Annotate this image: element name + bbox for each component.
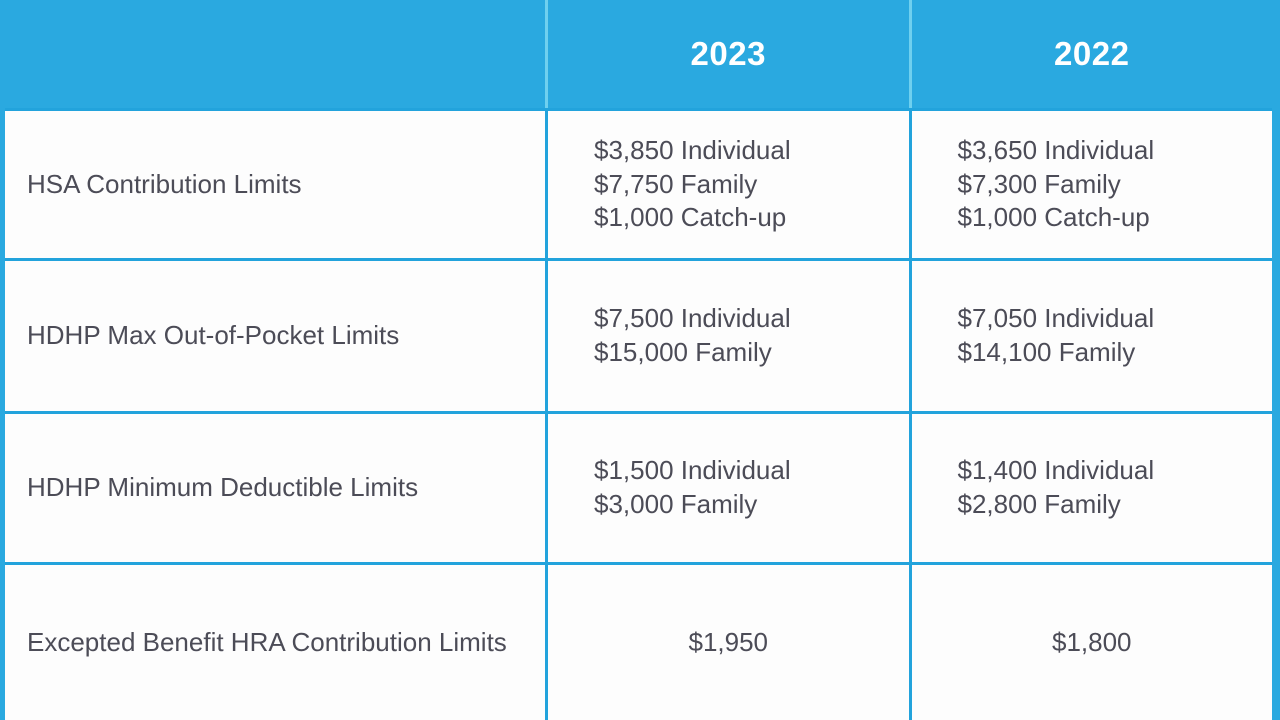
table-row: HDHP Minimum Deductible Limits $1,500 In… [5,411,1272,562]
value-line: $1,800 [1052,626,1132,660]
value-line: $14,100 Family [958,336,1136,370]
value-line: $1,400 Individual [958,454,1155,488]
value-line: $3,000 Family [594,488,757,522]
table-row: HDHP Max Out-of-Pocket Limits $7,500 Ind… [5,258,1272,411]
row-value-cell-2022: $3,650 Individual $7,300 Family $1,000 C… [909,111,1273,258]
table-header-row: 2023 2022 [5,0,1272,108]
row-value-cell-2022: $1,400 Individual $2,800 Family [909,414,1273,562]
table-body: HSA Contribution Limits $3,850 Individua… [5,108,1272,720]
row-value-cell-2022: $7,050 Individual $14,100 Family [909,261,1273,411]
row-label-cell: HDHP Minimum Deductible Limits [5,414,545,562]
value-line: $3,850 Individual [594,134,791,168]
row-value-cell-2022: $1,800 [909,565,1273,720]
value-line: $3,650 Individual [958,134,1155,168]
value-line: $1,000 Catch-up [958,201,1150,235]
value-line: $1,950 [688,626,768,660]
row-label-cell: HDHP Max Out-of-Pocket Limits [5,261,545,411]
table-header-2023: 2023 [545,0,909,108]
value-line: $2,800 Family [958,488,1121,522]
value-line: $1,500 Individual [594,454,791,488]
value-line: $7,050 Individual [958,302,1155,336]
row-label-text: Excepted Benefit HRA Contribution Limits [27,626,507,660]
row-label-cell: Excepted Benefit HRA Contribution Limits [5,565,545,720]
value-line: $15,000 Family [594,336,772,370]
value-line: $7,500 Individual [594,302,791,336]
row-label-text: HDHP Minimum Deductible Limits [27,471,418,505]
table-row: HSA Contribution Limits $3,850 Individua… [5,108,1272,258]
row-label-text: HDHP Max Out-of-Pocket Limits [27,319,399,353]
row-value-cell-2023: $7,500 Individual $15,000 Family [545,261,909,411]
row-value-cell-2023: $1,950 [545,565,909,720]
benefit-limits-table: 2023 2022 HSA Contribution Limits $3,850… [0,0,1280,720]
value-line: $1,000 Catch-up [594,201,786,235]
table-header-corner-cell [5,0,545,108]
value-line: $7,750 Family [594,168,757,202]
table-row: Excepted Benefit HRA Contribution Limits… [5,562,1272,720]
table-header-2022: 2022 [909,0,1273,108]
row-value-cell-2023: $3,850 Individual $7,750 Family $1,000 C… [545,111,909,258]
row-value-cell-2023: $1,500 Individual $3,000 Family [545,414,909,562]
value-line: $7,300 Family [958,168,1121,202]
row-label-cell: HSA Contribution Limits [5,111,545,258]
row-label-text: HSA Contribution Limits [27,168,302,202]
